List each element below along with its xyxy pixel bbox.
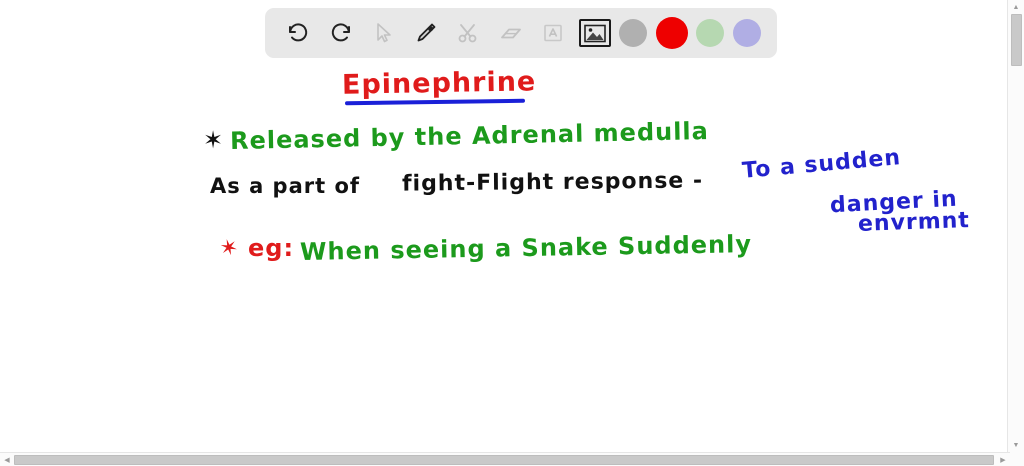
pen-icon[interactable] [409,16,443,50]
color-swatch-red[interactable] [656,17,688,49]
color-swatch-green[interactable] [696,19,724,47]
note-line-as-a-part-of: As a part of [210,174,360,198]
eraser-icon[interactable] [494,16,528,50]
bullet-star-icon: ✶ [203,126,224,154]
text-icon-glyph [541,21,565,45]
note-line-fight-flight-response: fight-Flight response - [402,168,703,196]
undo-icon[interactable] [281,16,315,50]
eraser-icon-glyph [498,21,524,45]
note-title: Epinephrine [342,66,537,100]
scrollbar-corner [1010,452,1024,466]
vertical-scrollbar-thumb[interactable] [1011,14,1022,66]
drawing-toolbar [265,8,777,58]
pen-icon-glyph [413,20,439,46]
color-swatch-gray[interactable] [619,19,647,47]
note-line-envrmnt: envrmnt [858,208,971,237]
color-swatch-purple[interactable] [733,19,761,47]
scissors-icon[interactable] [451,16,485,50]
note-line-example-snake: When seeing a Snake Suddenly [300,230,752,266]
scissors-icon-glyph [456,21,480,45]
scroll-left-arrow-icon[interactable]: ◀ [0,453,14,466]
image-icon[interactable] [579,19,611,47]
bullet-star-icon-2: ✶ [217,234,242,263]
note-line-released-by: Released by the Adrenal medulla [230,117,709,155]
redo-icon[interactable] [324,16,358,50]
image-icon-glyph [584,24,606,43]
whiteboard-canvas[interactable]: Epinephrine ✶ Released by the Adrenal me… [0,0,996,452]
scroll-right-arrow-icon[interactable]: ▶ [996,453,1010,466]
scroll-up-arrow-icon[interactable]: ▲ [1008,0,1024,14]
note-example-label: eg: [248,234,294,262]
scroll-down-arrow-icon[interactable]: ▼ [1008,438,1024,452]
cursor-icon[interactable] [366,16,400,50]
text-icon[interactable] [536,16,570,50]
vertical-scrollbar[interactable]: ▲ ▼ [1007,0,1024,452]
undo-icon-glyph [286,21,310,45]
cursor-icon-glyph [371,21,395,45]
horizontal-scrollbar-thumb[interactable] [14,455,994,465]
redo-icon-glyph [329,21,353,45]
note-line-to-a-sudden: To a sudden [741,145,902,184]
horizontal-scrollbar[interactable]: ◀ ▶ [0,452,1024,466]
